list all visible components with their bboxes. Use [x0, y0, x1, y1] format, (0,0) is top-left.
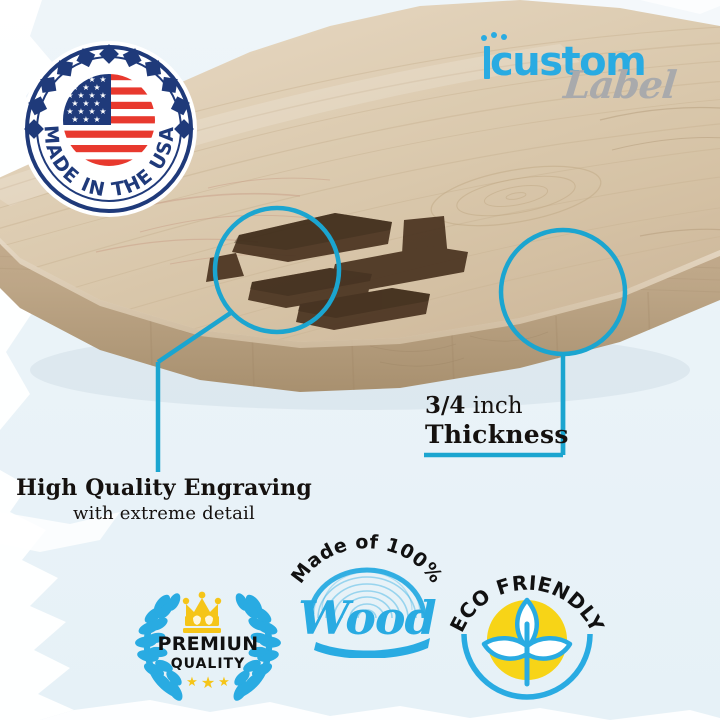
- made-of-wood-badge: Made of 100% Wood: [288, 522, 446, 658]
- brand-logo: custom Label: [478, 22, 708, 114]
- engraving-subtitle: with extreme detail: [14, 503, 314, 524]
- engraving-callout-text: High Quality Engraving with extreme deta…: [14, 476, 314, 524]
- thickness-callout-text: 3/4 inch Thickness: [425, 392, 585, 450]
- thickness-unit: inch: [473, 393, 523, 419]
- wood-arc-text: Made of 100%: [288, 531, 446, 587]
- engraving-title: High Quality Engraving: [14, 476, 314, 501]
- thickness-value: 3/4: [425, 392, 465, 419]
- wood-script-text: Wood: [298, 591, 436, 645]
- brand-name-secondary: Label: [562, 66, 678, 104]
- eco-friendly-badge: ECO FRIENDLY: [444, 562, 610, 710]
- svg-text:★: ★: [186, 675, 198, 690]
- svg-text:★: ★: [71, 115, 78, 124]
- product-infographic: custom Label: [0, 0, 720, 720]
- svg-text:★: ★: [218, 675, 230, 690]
- premium-line1: PREMIUN: [158, 633, 259, 655]
- three-stars-icon: ★ ★ ★: [186, 673, 230, 692]
- sprout-leaf-icon: [484, 600, 570, 684]
- made-in-usa-badge: ★★★★ ★★★ ★★★★ ★★★ ★★★★ ★★★ MADE IN THE U…: [20, 40, 198, 218]
- svg-text:★: ★: [93, 115, 100, 124]
- svg-text:★: ★: [201, 673, 215, 692]
- thickness-label: Thickness: [425, 420, 585, 450]
- svg-text:★: ★: [82, 115, 89, 124]
- premium-quality-badge: PREMIUN QUALITY ★ ★ ★: [132, 582, 284, 704]
- svg-text:Made of 100%: Made of 100%: [288, 531, 446, 587]
- crown-icon: [183, 592, 221, 633]
- premium-line2: QUALITY: [171, 656, 246, 672]
